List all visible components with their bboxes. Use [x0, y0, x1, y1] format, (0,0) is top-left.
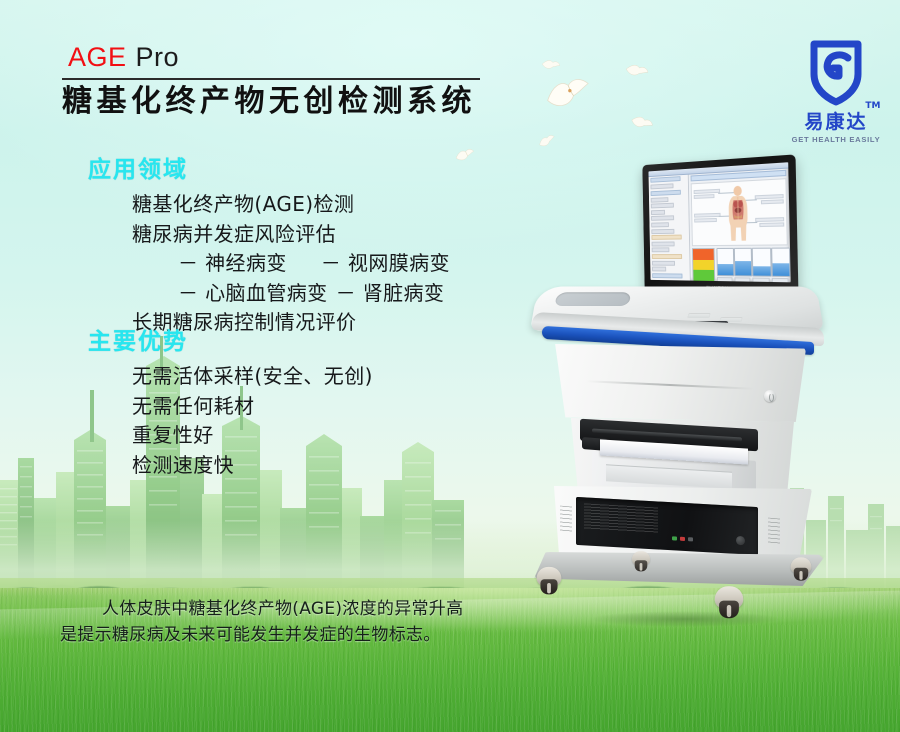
logo-name-text: 易康达: [804, 111, 867, 133]
page-title: 糖基化终产物无创检测系统: [62, 85, 482, 119]
caster-wheel: [537, 567, 562, 599]
screen-report-panel: [689, 168, 791, 283]
section-heading: 应用领域: [88, 150, 450, 184]
list-item-label: － 视网膜病变: [321, 251, 450, 275]
caster-tire: [794, 568, 808, 581]
bar-fill: [717, 264, 733, 275]
callout-block: [694, 218, 717, 223]
list-item: 糖基化终产物(AGE)检测: [132, 190, 450, 220]
section-list: 无需活体采样(安全、无创) 无需任何耗材 重复性好 检测速度快: [132, 362, 373, 480]
caster-wheel: [632, 551, 650, 575]
list-item-label: － 心脑血管病变: [178, 281, 328, 305]
list-item: 无需活体采样(安全、无创): [132, 362, 373, 392]
software-screen[interactable]: [648, 162, 790, 282]
list-item: 无需任何耗材: [132, 392, 373, 422]
monitor-display[interactable]: FUJITSU: [642, 154, 798, 296]
brand-age-text: AGE: [68, 42, 127, 72]
panel-highlight-block: [652, 254, 682, 259]
base-vent-right: [768, 518, 780, 545]
header-divider: [62, 78, 480, 80]
bar-tube: [716, 248, 734, 276]
list-item-label: － 肾脏病变: [336, 281, 445, 305]
brand-name: AGEPro: [62, 44, 482, 71]
risk-segment-medium: [693, 260, 713, 271]
caster-tire: [540, 579, 557, 594]
callout-block: [694, 194, 715, 199]
list-item: － 神经病变－ 视网膜病变: [178, 249, 450, 279]
panel-field-block: [652, 248, 670, 253]
poster-canvas: AGEPro 糖基化终产物无创检测系统 易康达TM GET HEALTH EAS…: [0, 0, 900, 732]
panel-field-block: [652, 267, 666, 272]
list-item: 糖尿病并发症风险评估: [132, 220, 450, 250]
poster-header: AGEPro 糖基化终产物无创检测系统: [62, 44, 482, 119]
section-list: 糖基化终产物(AGE)检测 糖尿病并发症风险评估 － 神经病变－ 视网膜病变 －…: [132, 190, 450, 338]
list-item: 检测速度快: [132, 451, 373, 481]
brand-pro-text: Pro: [136, 42, 180, 72]
panel-field-block: [651, 216, 674, 221]
list-item: 重复性好: [132, 421, 373, 451]
base-vent-left: [560, 506, 572, 533]
panel-header-block: [651, 189, 681, 196]
panel-field-block: [651, 197, 669, 203]
caption-line-1: 人体皮肤中糖基化终产物(AGE)浓度的异常升高: [60, 596, 530, 622]
pc-port-green[interactable]: [672, 536, 677, 540]
risk-segment-high: [693, 249, 713, 260]
cart-base-plinth: [534, 552, 826, 586]
bar-tube: [752, 248, 771, 277]
pc-vent-grille: [584, 503, 658, 533]
cart-body-upper: [550, 344, 806, 422]
bar-tube: [734, 248, 753, 277]
panel-field-block: [652, 241, 675, 246]
trademark-icon: TM: [865, 101, 880, 111]
section-main-advantages: 主要优势 无需活体采样(安全、无创) 无需任何耗材 重复性好 检测速度快: [88, 322, 373, 480]
bar-tube: [771, 248, 791, 278]
panel-highlight-block: [651, 235, 681, 240]
pc-power-button[interactable]: [736, 536, 745, 546]
list-item-label: － 神经病变: [178, 251, 287, 275]
bar-fill: [735, 261, 752, 276]
worktop-pad: [553, 292, 631, 306]
worktop-slot: [687, 313, 710, 318]
panel-field-block: [652, 260, 675, 265]
screen-sidebar-panel: [649, 174, 691, 281]
panel-field-block: [651, 228, 674, 233]
panel-field-block: [650, 183, 673, 189]
logo-company-name: 易康达TM: [804, 107, 867, 134]
callout-block: [761, 199, 784, 204]
section-heading: 主要优势: [88, 322, 373, 356]
dove-icon: [542, 73, 594, 114]
anatomy-diagram-area: [691, 178, 788, 246]
printer: [576, 424, 766, 490]
human-body-diagram-icon: [724, 184, 751, 242]
cart-shadow: [554, 608, 816, 630]
risk-level-stack: [692, 248, 715, 282]
bar-fill: [753, 266, 770, 275]
pc-port-red[interactable]: [680, 537, 685, 541]
pc-ports: [672, 536, 732, 543]
logo-tagline: GET HEALTH EASILY: [782, 135, 890, 144]
caster-tire: [635, 560, 648, 571]
callout-block: [759, 222, 784, 227]
list-item: － 心脑血管病变－ 肾脏病变: [178, 279, 450, 309]
pc-port-usb[interactable]: [688, 537, 693, 541]
footer-caption: 人体皮肤中糖基化终产物(AGE)浓度的异常升高 是提示糖尿病及未来可能发生并发症…: [60, 596, 530, 649]
company-logo: 易康达TM GET HEALTH EASILY: [782, 34, 890, 144]
power-button[interactable]: [764, 390, 776, 402]
age-detection-workstation: FUJITSU: [520, 150, 850, 650]
panel-field-block: [651, 210, 665, 215]
panel-header-block: [650, 176, 680, 183]
section-application-areas: 应用领域 糖基化终产物(AGE)检测 糖尿病并发症风险评估 － 神经病变－ 视网…: [88, 150, 450, 338]
pc-tower-recess: [576, 497, 758, 555]
caption-line-2: 是提示糖尿病及未来可能发生并发症的生物标志。: [60, 622, 530, 648]
bar-fill: [772, 263, 789, 276]
caster-wheel: [791, 557, 812, 584]
panel-field-block: [651, 222, 669, 227]
panel-field-block: [651, 203, 674, 209]
equipment-cart: [520, 278, 850, 650]
shield-g-logo-icon: [800, 34, 872, 106]
